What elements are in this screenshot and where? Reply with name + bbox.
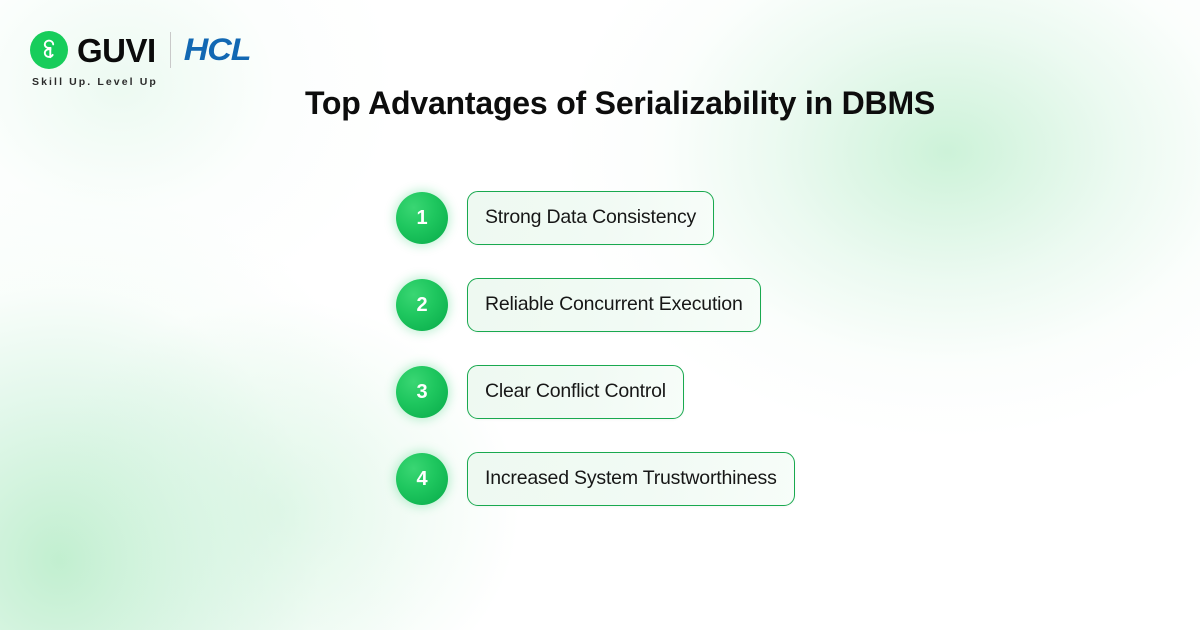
list-item: 1 Strong Data Consistency — [396, 192, 795, 244]
step-number-badge: 2 — [396, 279, 448, 331]
advantage-label: Increased System Trustworthiness — [485, 469, 777, 489]
advantage-label: Clear Conflict Control — [485, 382, 666, 402]
step-number-badge: 1 — [396, 192, 448, 244]
advantage-box: Reliable Concurrent Execution — [467, 278, 761, 332]
list-item: 4 Increased System Trustworthiness — [396, 453, 795, 505]
advantage-box: Strong Data Consistency — [467, 191, 714, 245]
infographic-canvas: GUVI HCL Skill Up. Level Up Top Advantag… — [0, 0, 1200, 630]
advantages-list: 1 Strong Data Consistency 2 Reliable Con… — [396, 192, 795, 505]
advantage-box: Clear Conflict Control — [467, 365, 684, 419]
advantage-label: Strong Data Consistency — [485, 208, 696, 228]
list-item: 3 Clear Conflict Control — [396, 366, 795, 418]
list-item: 2 Reliable Concurrent Execution — [396, 279, 795, 331]
advantage-box: Increased System Trustworthiness — [467, 452, 795, 506]
page-title: Top Advantages of Serializability in DBM… — [0, 82, 1200, 124]
step-number-badge: 3 — [396, 366, 448, 418]
guvi-g-mark-icon — [30, 31, 68, 69]
brand-lockup: GUVI HCL Skill Up. Level Up — [30, 28, 251, 88]
brand-logo-row: GUVI HCL — [30, 28, 251, 72]
brand-divider — [170, 32, 171, 68]
advantage-label: Reliable Concurrent Execution — [485, 295, 743, 315]
guvi-wordmark: GUVI — [77, 34, 156, 67]
step-number-badge: 4 — [396, 453, 448, 505]
hcl-wordmark: HCL — [184, 34, 251, 65]
